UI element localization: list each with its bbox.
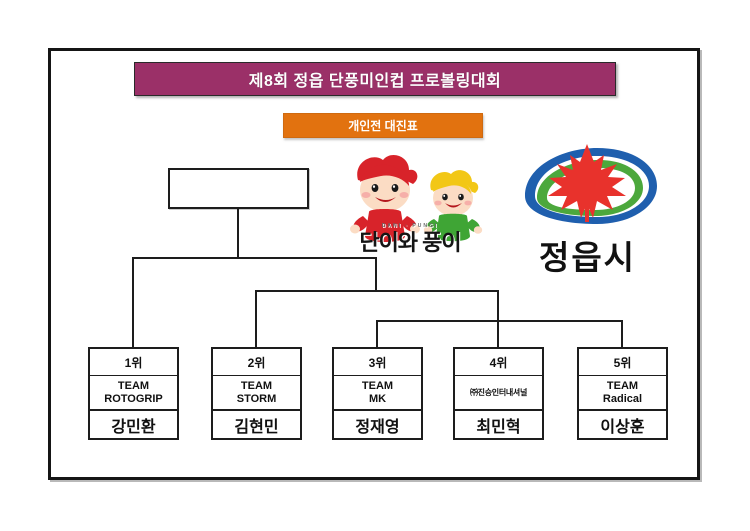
- team-line-1: TEAM: [237, 380, 277, 393]
- mascot-characters-icon: DANI · PUNGI 단이와 풍이: [325, 150, 495, 255]
- result-box-rank1[interactable]: 1위 TEAM ROTOGRIP 강민환: [88, 347, 179, 440]
- player-name: 김현민: [213, 411, 300, 438]
- rank-label: 3위: [334, 349, 421, 376]
- team-line-2: STORM: [237, 393, 277, 406]
- team-label: ㈜진승인터내셔널: [455, 376, 542, 411]
- mascot-caption: DANI · PUNGI 단이와 풍이: [325, 223, 495, 257]
- rank-label: 5위: [579, 349, 666, 376]
- player-name: 최민혁: [455, 411, 542, 438]
- bracket-drop-seed3: [376, 320, 378, 347]
- bracket-hbar-level1: [132, 257, 377, 259]
- team-label: TEAM Radical: [579, 376, 666, 411]
- result-box-rank3[interactable]: 3위 TEAM MK 정재영: [332, 347, 423, 440]
- page-title-text: 제8회 정읍 단풍미인컵 프로볼링대회: [249, 67, 502, 91]
- team-line-1: TEAM: [362, 380, 393, 393]
- team-line-2: MK: [362, 393, 393, 406]
- bracket-trunk-level1: [375, 257, 377, 291]
- team-line-1: ㈜진승인터내셔널: [470, 388, 527, 397]
- page-title: 제8회 정읍 단풍미인컵 프로볼링대회: [134, 62, 616, 96]
- subtitle-badge: 개인전 대진표: [283, 113, 483, 138]
- result-box-rank4[interactable]: 4위 ㈜진승인터내셔널 최민혁: [453, 347, 544, 440]
- bracket-hbar-level2: [255, 290, 499, 292]
- team-line-2: ROTOGRIP: [104, 393, 162, 406]
- bracket-hbar-level3: [376, 320, 623, 322]
- subtitle-text: 개인전 대진표: [348, 117, 418, 134]
- jeongeup-city-maple-logo-icon: 정읍시: [505, 140, 670, 275]
- bracket-stem-champion: [237, 209, 239, 258]
- team-line-2: Radical: [603, 393, 642, 406]
- bracket-drop-seed2: [255, 290, 257, 347]
- player-name: 정재영: [334, 411, 421, 438]
- mascot-romanized: DANI · PUNGI: [325, 223, 495, 229]
- tournament-bracket-poster: 제8회 정읍 단풍미인컵 프로볼링대회 개인전 대진표 1위 TEAM ROTO…: [0, 0, 750, 531]
- champion-box: [168, 168, 309, 209]
- rank-label: 2위: [213, 349, 300, 376]
- result-box-rank2[interactable]: 2위 TEAM STORM 김현민: [211, 347, 302, 440]
- bracket-drop-seed5: [621, 320, 623, 347]
- team-line-1: TEAM: [603, 380, 642, 393]
- result-box-rank5[interactable]: 5위 TEAM Radical 이상훈: [577, 347, 668, 440]
- team-label: TEAM ROTOGRIP: [90, 376, 177, 411]
- rank-label: 1위: [90, 349, 177, 376]
- mascot-name: 단이와 풍이: [359, 230, 460, 255]
- team-label: TEAM STORM: [213, 376, 300, 411]
- city-name: 정읍시: [505, 231, 670, 279]
- bracket-drop-seed1: [132, 257, 134, 347]
- player-name: 강민환: [90, 411, 177, 438]
- player-name: 이상훈: [579, 411, 666, 438]
- bracket-drop-seed4: [497, 320, 499, 347]
- team-line-1: TEAM: [104, 380, 162, 393]
- team-label: TEAM MK: [334, 376, 421, 411]
- rank-label: 4위: [455, 349, 542, 376]
- bracket-trunk-level2: [497, 290, 499, 322]
